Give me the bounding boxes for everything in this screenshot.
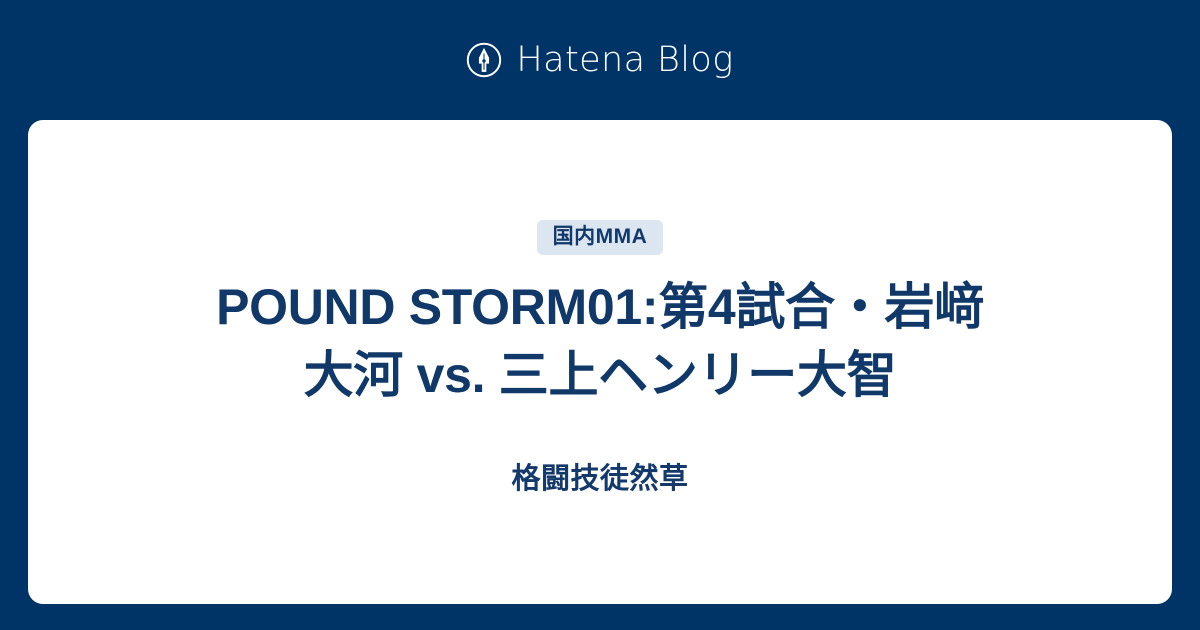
entry-title: POUND STORM01:第4試合・岩﨑大河 vs. 三上ヘンリー大智 [195, 273, 1005, 409]
service-name: Hatena Blog [516, 43, 733, 78]
fountain-pen-nib-circle-icon [466, 42, 502, 78]
category-badge-row: 国内MMA [88, 220, 1112, 255]
hatena-blog-brand-header: Hatena Blog [0, 0, 1200, 120]
blog-name: 格闘技徒然草 [511, 465, 688, 494]
category-badge[interactable]: 国内MMA [537, 220, 664, 255]
entry-card: 国内MMA POUND STORM01:第4試合・岩﨑大河 vs. 三上ヘンリー… [28, 120, 1172, 604]
